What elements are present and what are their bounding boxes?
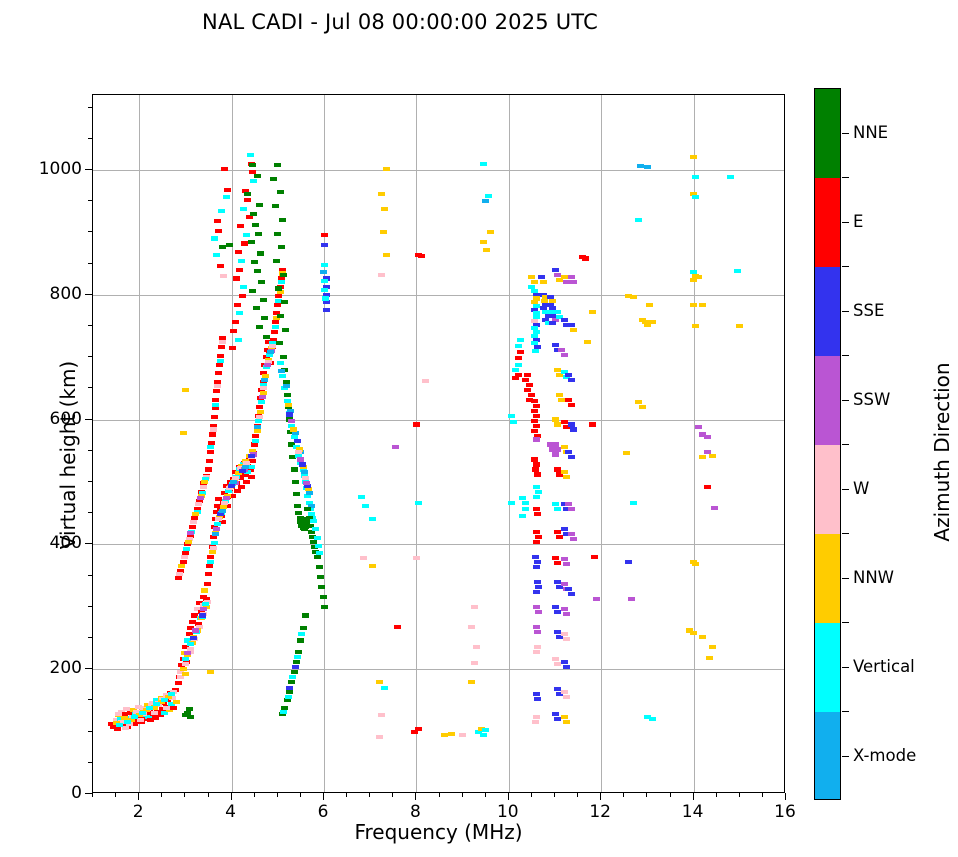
x-tick-label: 4	[201, 802, 261, 822]
colorbar-title: Azimuth Direction	[930, 282, 954, 622]
x-tick	[277, 793, 278, 797]
colorbar-tick	[842, 489, 849, 490]
y-tick	[88, 481, 92, 482]
y-tick	[85, 419, 92, 420]
colorbar-segment	[815, 89, 840, 178]
y-tick-label: 200	[12, 658, 82, 678]
colorbar-segment	[815, 445, 840, 534]
x-tick	[92, 793, 93, 797]
y-tick	[85, 543, 92, 544]
x-tick	[716, 793, 717, 797]
y-tick	[88, 200, 92, 201]
colorbar-label: NNW	[853, 568, 894, 587]
x-tick	[646, 793, 647, 797]
x-tick	[554, 793, 555, 797]
y-tick	[88, 356, 92, 357]
x-tick	[346, 793, 347, 797]
x-tick	[670, 793, 671, 797]
x-tick	[462, 793, 463, 797]
colorbar-segment	[815, 267, 840, 356]
colorbar-boundary-tick	[842, 266, 849, 267]
y-tick	[88, 637, 92, 638]
y-tick	[85, 793, 92, 794]
colorbar-boundary-tick	[842, 177, 849, 178]
x-tick-label: 6	[293, 802, 353, 822]
x-tick	[115, 793, 116, 797]
x-tick-label: 14	[663, 802, 723, 822]
colorbar-label: W	[853, 479, 869, 498]
x-tick	[485, 793, 486, 797]
x-tick	[138, 793, 139, 800]
y-tick	[88, 606, 92, 607]
y-tick	[88, 512, 92, 513]
colorbar-segment	[815, 356, 840, 445]
y-tick	[88, 325, 92, 326]
x-tick	[739, 793, 740, 797]
x-tick	[300, 793, 301, 797]
x-tick	[208, 793, 209, 797]
colorbar-tick	[842, 133, 849, 134]
scatter-points	[93, 95, 784, 792]
x-tick-label: 8	[385, 802, 445, 822]
colorbar-tick	[842, 311, 849, 312]
x-tick	[254, 793, 255, 797]
x-tick	[392, 793, 393, 797]
y-tick	[88, 450, 92, 451]
x-tick	[577, 793, 578, 797]
colorbar-boundary-tick	[842, 533, 849, 534]
colorbar-tick	[842, 222, 849, 223]
x-tick	[693, 793, 694, 800]
x-tick	[184, 793, 185, 797]
x-tick	[600, 793, 601, 800]
colorbar-label: NNE	[853, 123, 888, 142]
x-tick	[369, 793, 370, 797]
x-tick	[762, 793, 763, 797]
colorbar	[814, 88, 841, 800]
y-tick	[88, 762, 92, 763]
y-tick-label: 1000	[12, 159, 82, 179]
colorbar-tick	[842, 756, 849, 757]
colorbar-boundary-tick	[842, 444, 849, 445]
x-tick-label: 12	[570, 802, 630, 822]
x-tick	[161, 793, 162, 797]
colorbar-boundary-tick	[842, 355, 849, 356]
colorbar-segment	[815, 178, 840, 267]
x-tick	[323, 793, 324, 800]
x-tick-label: 16	[755, 802, 815, 822]
y-tick	[88, 699, 92, 700]
x-tick	[231, 793, 232, 800]
colorbar-label: SSE	[853, 301, 884, 320]
x-tick-label: 2	[108, 802, 168, 822]
y-tick	[88, 263, 92, 264]
y-tick	[88, 231, 92, 232]
y-tick	[85, 668, 92, 669]
y-axis-label: Virtual height (km)	[56, 295, 80, 615]
colorbar-label: X-mode	[853, 746, 916, 765]
y-tick	[88, 107, 92, 108]
x-tick	[623, 793, 624, 797]
y-tick	[88, 731, 92, 732]
plot-area	[92, 94, 785, 793]
x-tick	[439, 793, 440, 797]
colorbar-tick	[842, 578, 849, 579]
colorbar-label: SSW	[853, 390, 890, 409]
x-tick	[508, 793, 509, 800]
colorbar-segment	[815, 534, 840, 623]
colorbar-boundary-tick	[842, 622, 849, 623]
colorbar-boundary-tick	[842, 711, 849, 712]
colorbar-tick	[842, 400, 849, 401]
colorbar-label: Vertical	[853, 657, 915, 676]
chart-title: NAL CADI - Jul 08 00:00:00 2025 UTC	[0, 10, 800, 34]
x-tick	[415, 793, 416, 800]
y-tick	[88, 575, 92, 576]
y-tick	[85, 169, 92, 170]
y-tick	[88, 387, 92, 388]
figure: NAL CADI - Jul 08 00:00:00 2025 UTC 2468…	[0, 0, 958, 857]
x-tick	[531, 793, 532, 797]
x-axis-label: Frequency (MHz)	[92, 820, 785, 844]
colorbar-segment	[815, 623, 840, 712]
y-tick	[88, 138, 92, 139]
colorbar-segment	[815, 712, 840, 800]
y-tick	[85, 294, 92, 295]
x-tick	[785, 793, 786, 800]
colorbar-label: E	[853, 212, 863, 231]
y-tick-label: 0	[12, 783, 82, 803]
x-tick-label: 10	[478, 802, 538, 822]
colorbar-tick	[842, 667, 849, 668]
